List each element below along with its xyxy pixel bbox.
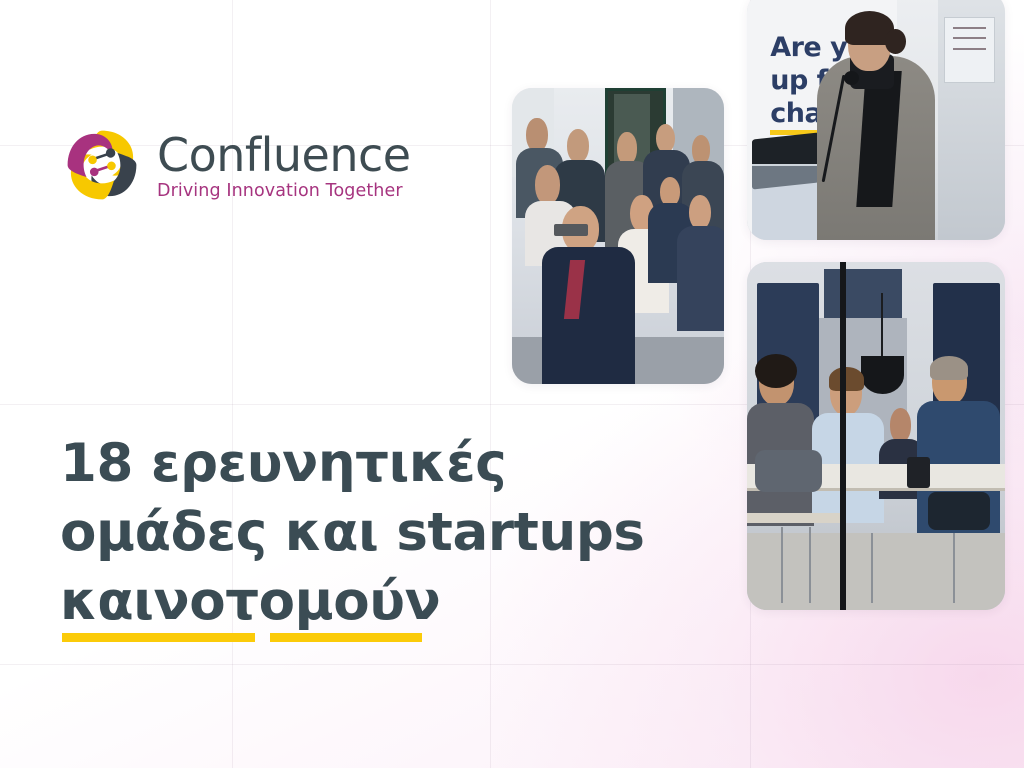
grid-line-vertical-1 [232, 0, 233, 768]
page-title: 18 ερευνητικές ομάδες και startups καινο… [60, 430, 680, 637]
banner-text-line-1: Are y [770, 32, 847, 65]
team-photo-scene [747, 262, 1005, 610]
headline-underlined-word: καινοτομούν [60, 568, 440, 637]
speaker-photo-scene: Are y up fo chall [747, 0, 1005, 240]
audience-photo [512, 88, 724, 384]
grid-line-vertical-2 [490, 0, 491, 768]
headline-line-2: ομάδες και startups [60, 499, 680, 568]
brand-logo: Confluence Driving Innovation Together [59, 122, 411, 208]
headline-line-3-text: καινοτομούν [60, 571, 440, 632]
speaker-photo: Are y up fo chall [747, 0, 1005, 240]
headline-underline-segment-2 [270, 633, 422, 642]
team-meeting-photo [747, 262, 1005, 610]
slide-canvas: Confluence Driving Innovation Together 1… [0, 0, 1024, 768]
brand-name: Confluence [157, 132, 411, 178]
brand-tagline: Driving Innovation Together [157, 182, 411, 201]
headline-line-1: 18 ερευνητικές [60, 430, 680, 499]
audience-photo-scene [512, 88, 724, 384]
wall-sign [944, 17, 995, 83]
brand-wordmark-group: Confluence Driving Innovation Together [157, 128, 411, 201]
headline-line-3: καινοτομούν [60, 568, 680, 637]
grid-line-horizontal-3 [0, 664, 1024, 665]
headline-underline-segment-1 [62, 633, 255, 642]
confluence-swirl-icon [59, 122, 145, 208]
